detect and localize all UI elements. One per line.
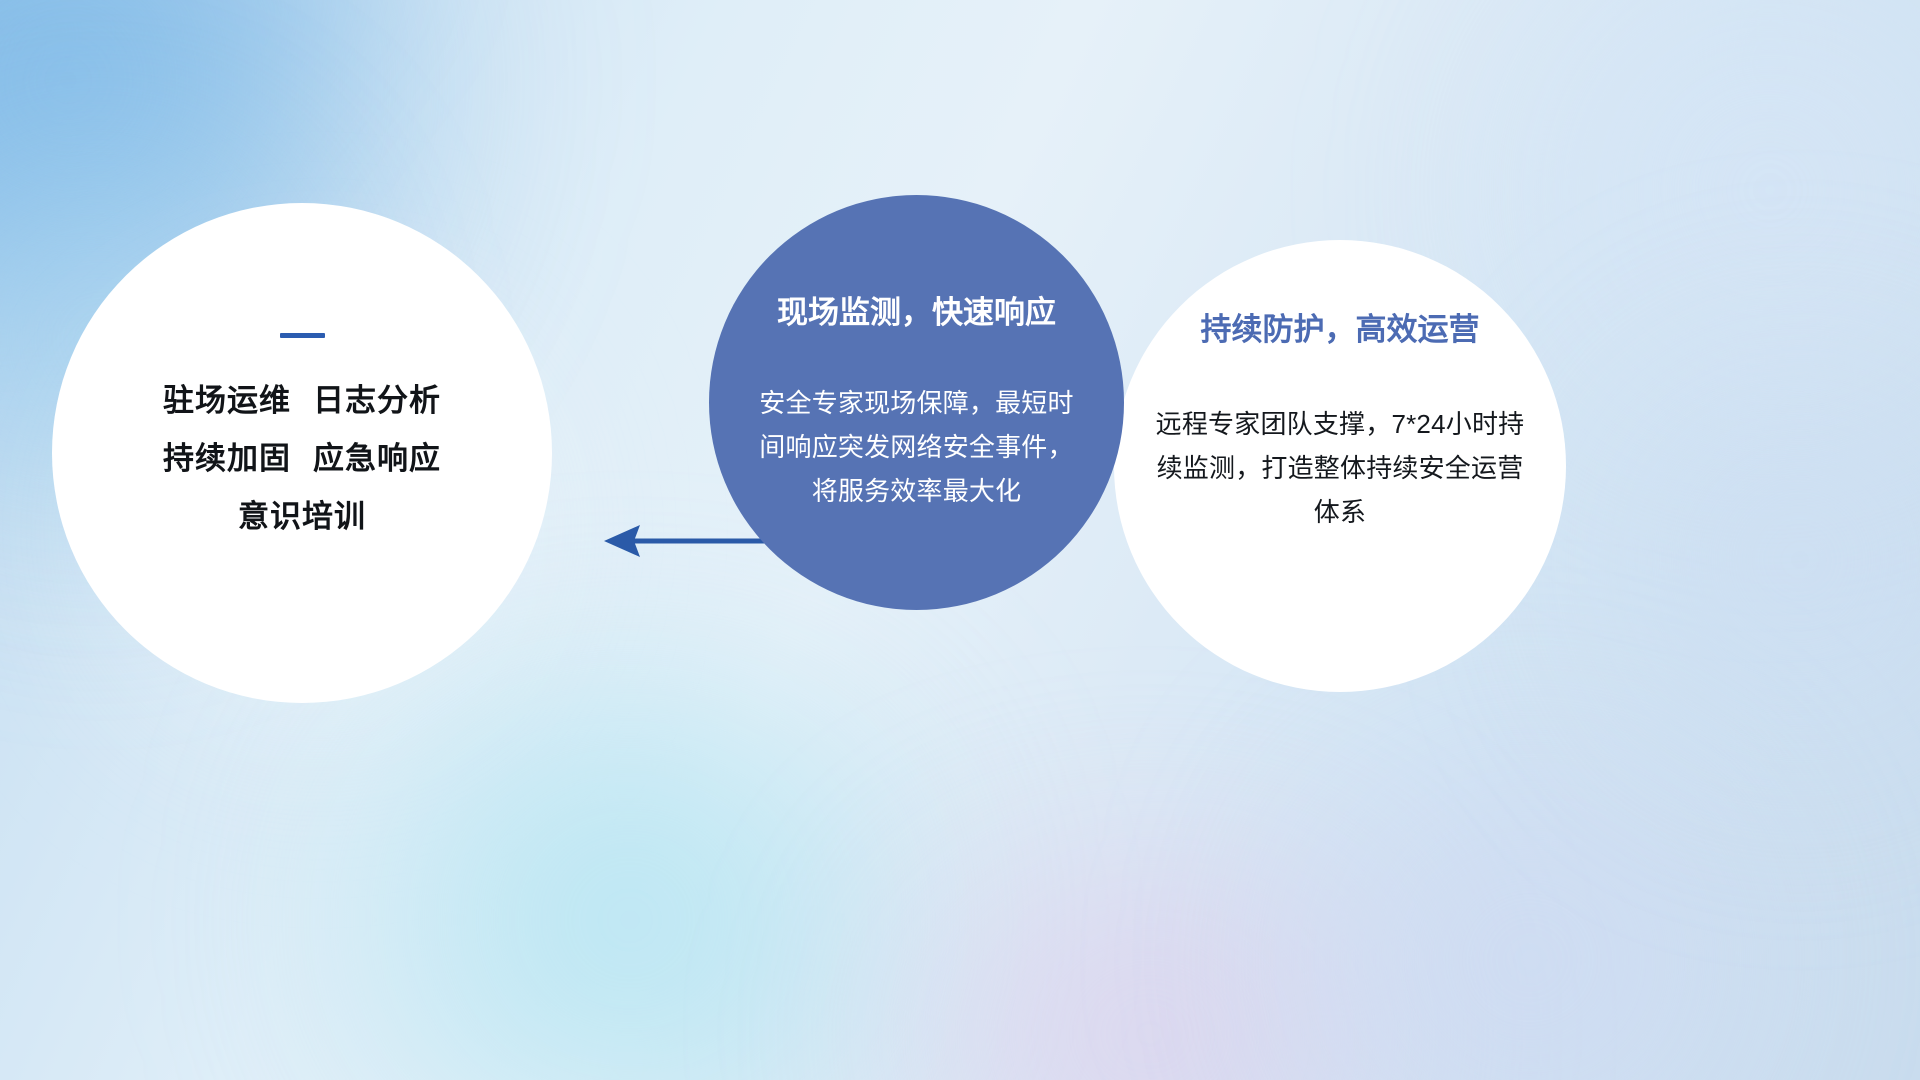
keywords-row-2: 持续加固应急响应 — [163, 430, 441, 488]
continuous-protection-body: 远程专家团队支撑，7*24小时持续监测，打造整体持续安全运营体系 — [1150, 402, 1530, 534]
continuous-protection-circle[interactable]: 持续防护，高效运营 远程专家团队支撑，7*24小时持续监测，打造整体持续安全运营… — [1114, 240, 1566, 692]
continuous-protection-title: 持续防护，高效运营 — [1201, 310, 1480, 350]
onsite-monitoring-circle[interactable]: 现场监测，快速响应 安全专家现场保障，最短时间响应突发网络安全事件，将服务效率最… — [709, 195, 1124, 610]
keyword-chixujiagu: 持续加固 — [163, 441, 291, 476]
keyword-yingjixiangying: 应急响应 — [313, 441, 441, 476]
blue-dash-divider-icon — [280, 333, 325, 338]
onsite-monitoring-body: 安全专家现场保障，最短时间响应突发网络安全事件，将服务效率最大化 — [757, 381, 1077, 513]
keywords-row-1: 驻场运维日志分析 — [163, 372, 441, 430]
slide-canvas: 驻场运维日志分析 持续加固应急响应 意识培训 持续防护，高效运营 远程专家团队支… — [0, 0, 1920, 1080]
keyword-rizhifenxi: 日志分析 — [313, 383, 441, 418]
keywords-row-3: 意识培训 — [163, 488, 441, 546]
keywords-list: 驻场运维日志分析 持续加固应急响应 意识培训 — [163, 372, 441, 546]
onsite-monitoring-title: 现场监测，快速响应 — [777, 293, 1056, 333]
keywords-circle[interactable]: 驻场运维日志分析 持续加固应急响应 意识培训 — [52, 203, 552, 703]
keyword-yishipeixun: 意识培训 — [238, 499, 366, 534]
keyword-zhuchangyunwei: 驻场运维 — [163, 383, 291, 418]
